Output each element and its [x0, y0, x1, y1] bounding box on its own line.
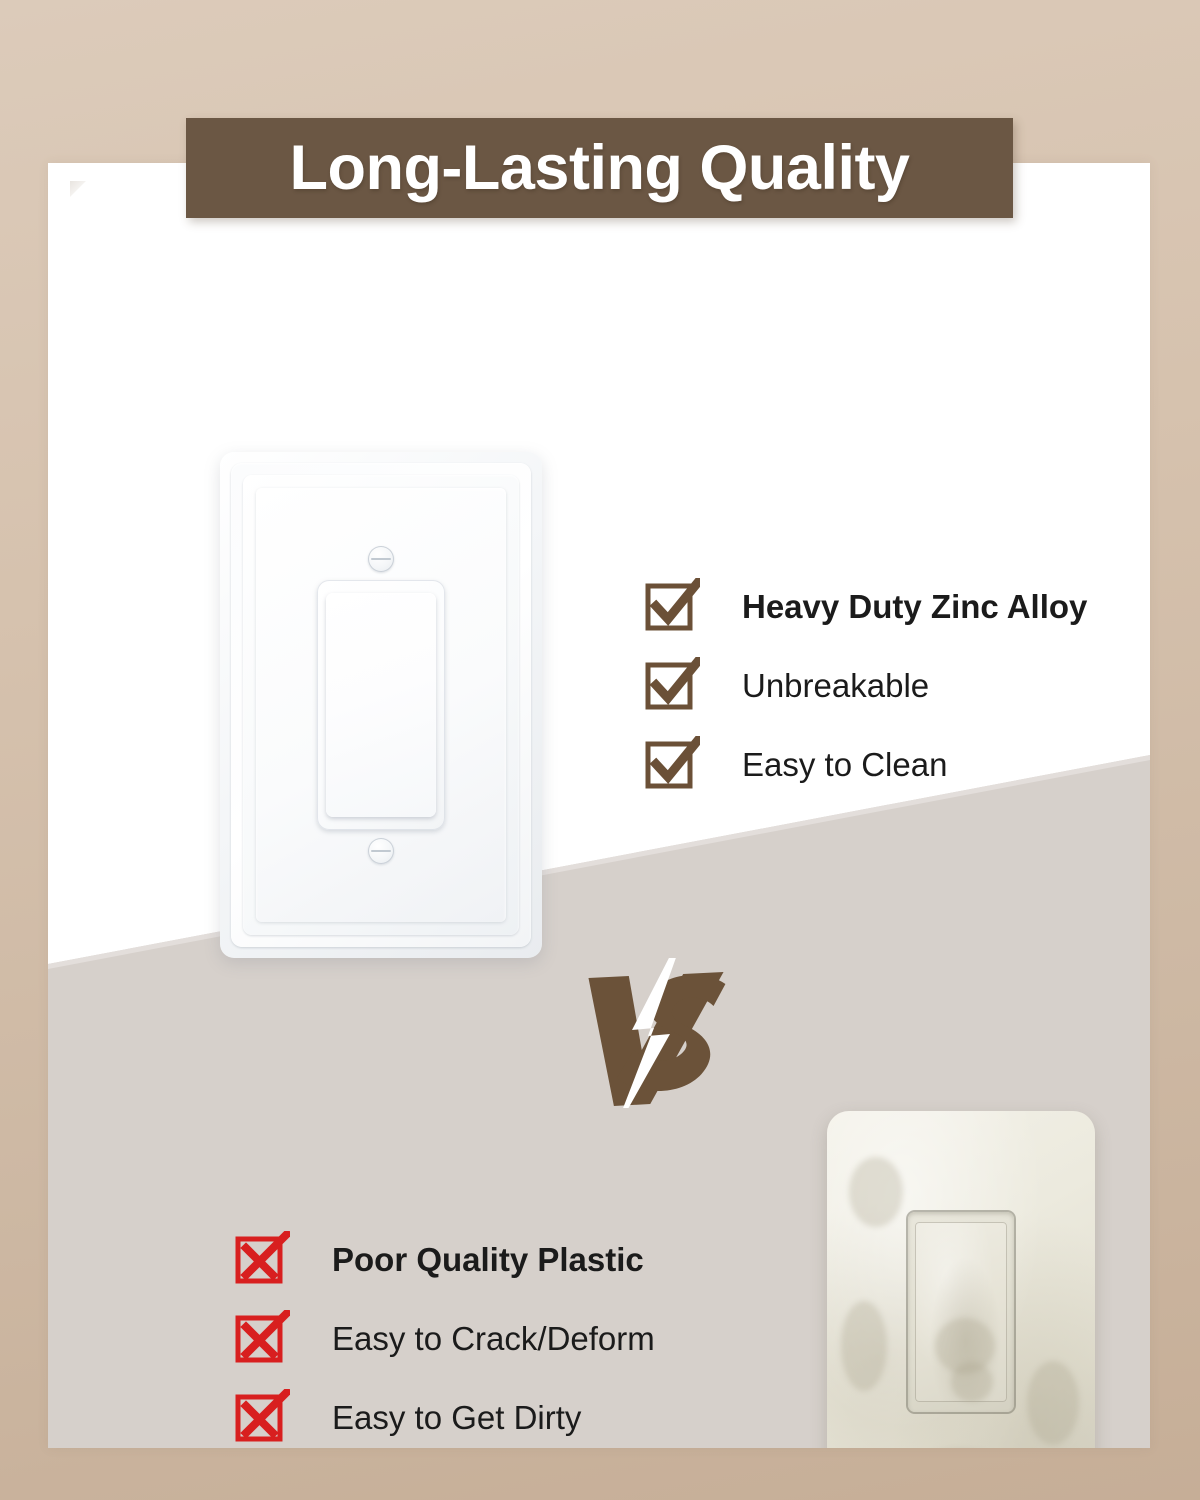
- feature-label: Easy to Clean: [742, 748, 947, 781]
- bad-rocker-switch-frame: [908, 1212, 1014, 1412]
- feature-label: Heavy Duty Zinc Alloy: [742, 590, 1087, 623]
- feature-label: Poor Quality Plastic: [332, 1243, 644, 1276]
- good-product-image: [220, 452, 542, 958]
- check-icon: [644, 736, 700, 792]
- grime-stain: [951, 1362, 993, 1402]
- grime-stain: [841, 1301, 887, 1391]
- screw-head-top-icon: [368, 546, 394, 572]
- cons-feature-list: Poor Quality Plastic Easy to Crack/Defor…: [234, 1231, 655, 1445]
- check-icon: [644, 578, 700, 634]
- screw-head-bottom-icon: [368, 838, 394, 864]
- feature-row: Easy to Crack/Deform: [234, 1310, 655, 1366]
- check-icon: [644, 657, 700, 713]
- plate-face: [256, 488, 506, 922]
- feature-label: Unbreakable: [742, 669, 929, 702]
- cross-icon: [234, 1389, 290, 1445]
- card-corner-fold: [70, 181, 86, 197]
- versus-icon: [566, 958, 736, 1108]
- feature-row: Easy to Get Dirty: [234, 1389, 655, 1445]
- cross-icon: [234, 1310, 290, 1366]
- feature-label: Easy to Get Dirty: [332, 1401, 581, 1434]
- grime-stain: [1027, 1361, 1079, 1445]
- feature-label: Easy to Crack/Deform: [332, 1322, 655, 1355]
- feature-row: Unbreakable: [644, 657, 1087, 713]
- page-title: Long-Lasting Quality: [290, 137, 910, 200]
- rocker-switch-paddle: [326, 593, 436, 817]
- bad-rocker-switch-paddle: [915, 1222, 1007, 1402]
- bad-product-image: [827, 1111, 1095, 1448]
- pros-feature-list: Heavy Duty Zinc Alloy Unbreakable Easy t…: [644, 578, 1087, 792]
- feature-row: Poor Quality Plastic: [234, 1231, 655, 1287]
- content-card: Heavy Duty Zinc Alloy Unbreakable Easy t…: [48, 163, 1150, 1448]
- cross-icon: [234, 1231, 290, 1287]
- feature-row: Easy to Clean: [644, 736, 1087, 792]
- grime-stain: [849, 1157, 903, 1227]
- rocker-switch-frame: [317, 580, 445, 830]
- feature-row: Heavy Duty Zinc Alloy: [644, 578, 1087, 634]
- title-banner: Long-Lasting Quality: [186, 118, 1013, 218]
